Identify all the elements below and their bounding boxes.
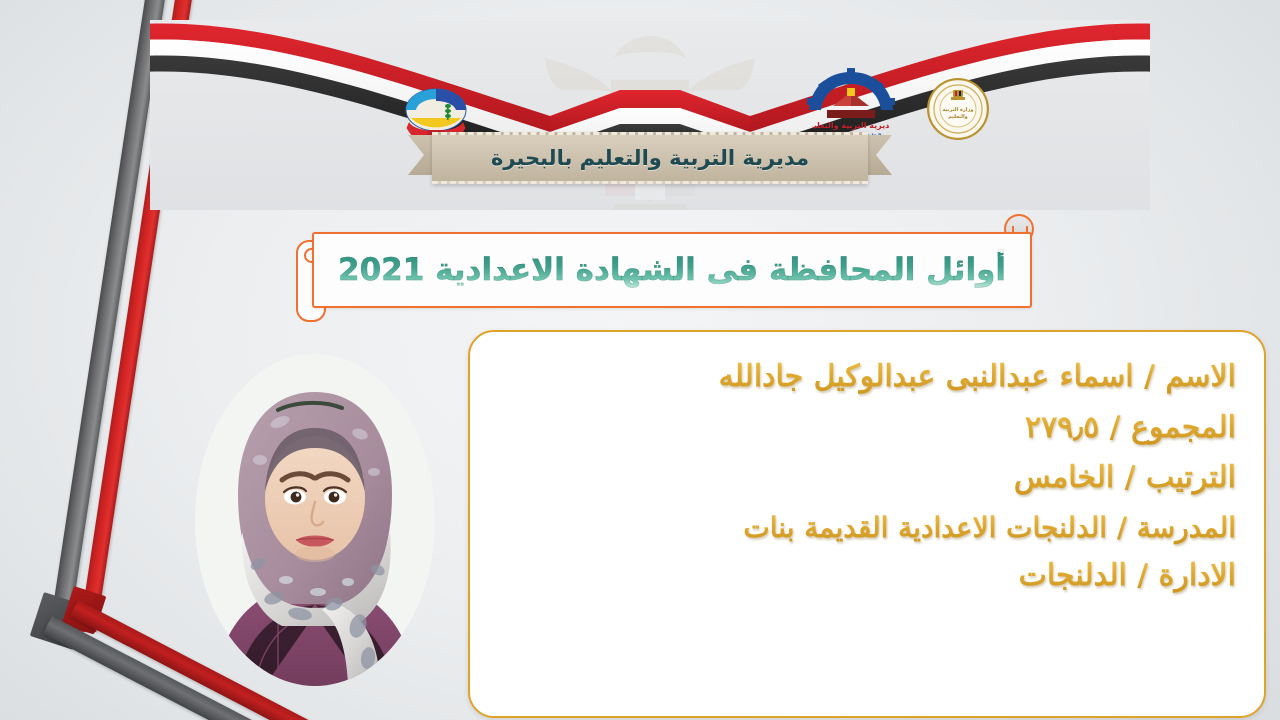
svg-text:والتعليم: والتعليم xyxy=(948,114,968,120)
student-photo xyxy=(182,352,448,704)
info-line-total: المجموع / ٢٧٩٫٥ xyxy=(498,405,1236,452)
page-title: أوائل المحافظة فى الشهادة الاعدادية 2021 xyxy=(338,252,1006,288)
egyptian-flag-ribbon xyxy=(150,20,1150,150)
info-line-school: المدرسة / الدلنجات الاعدادية القديمة بنا… xyxy=(498,506,1236,549)
header-band: مديرية التربية والتعليم Directorate Of E… xyxy=(150,20,1150,210)
svg-text:مديرية التربية والتعليم: مديرية التربية والتعليم xyxy=(807,121,894,130)
info-line-name: الاسم / اسماء عبدالنبى عبدالوكيل جادالله xyxy=(498,354,1236,401)
ministry-of-education-seal: وزارة التربية والتعليم xyxy=(927,78,989,140)
title-scroll-box: أوائل المحافظة فى الشهادة الاعدادية 2021 xyxy=(296,226,1032,318)
title-sheet: أوائل المحافظة فى الشهادة الاعدادية 2021 xyxy=(312,232,1032,308)
student-portrait-illustration xyxy=(182,352,448,704)
directorate-banner: مديرية التربية والتعليم بالبحيرة xyxy=(408,132,892,178)
svg-text:وزارة التربية: وزارة التربية xyxy=(943,107,974,113)
student-info-card: الاسم / اسماء عبدالنبى عبدالوكيل جادالله… xyxy=(468,330,1266,718)
info-line-rank: الترتيب / الخامس xyxy=(498,455,1236,502)
directorate-banner-label: مديرية التربية والتعليم بالبحيرة xyxy=(491,146,809,170)
banner-strip: مديرية التربية والتعليم بالبحيرة xyxy=(432,132,868,184)
info-line-administration: الادارة / الدلنجات xyxy=(498,553,1236,600)
slide-canvas: مديرية التربية والتعليم Directorate Of E… xyxy=(0,0,1280,720)
